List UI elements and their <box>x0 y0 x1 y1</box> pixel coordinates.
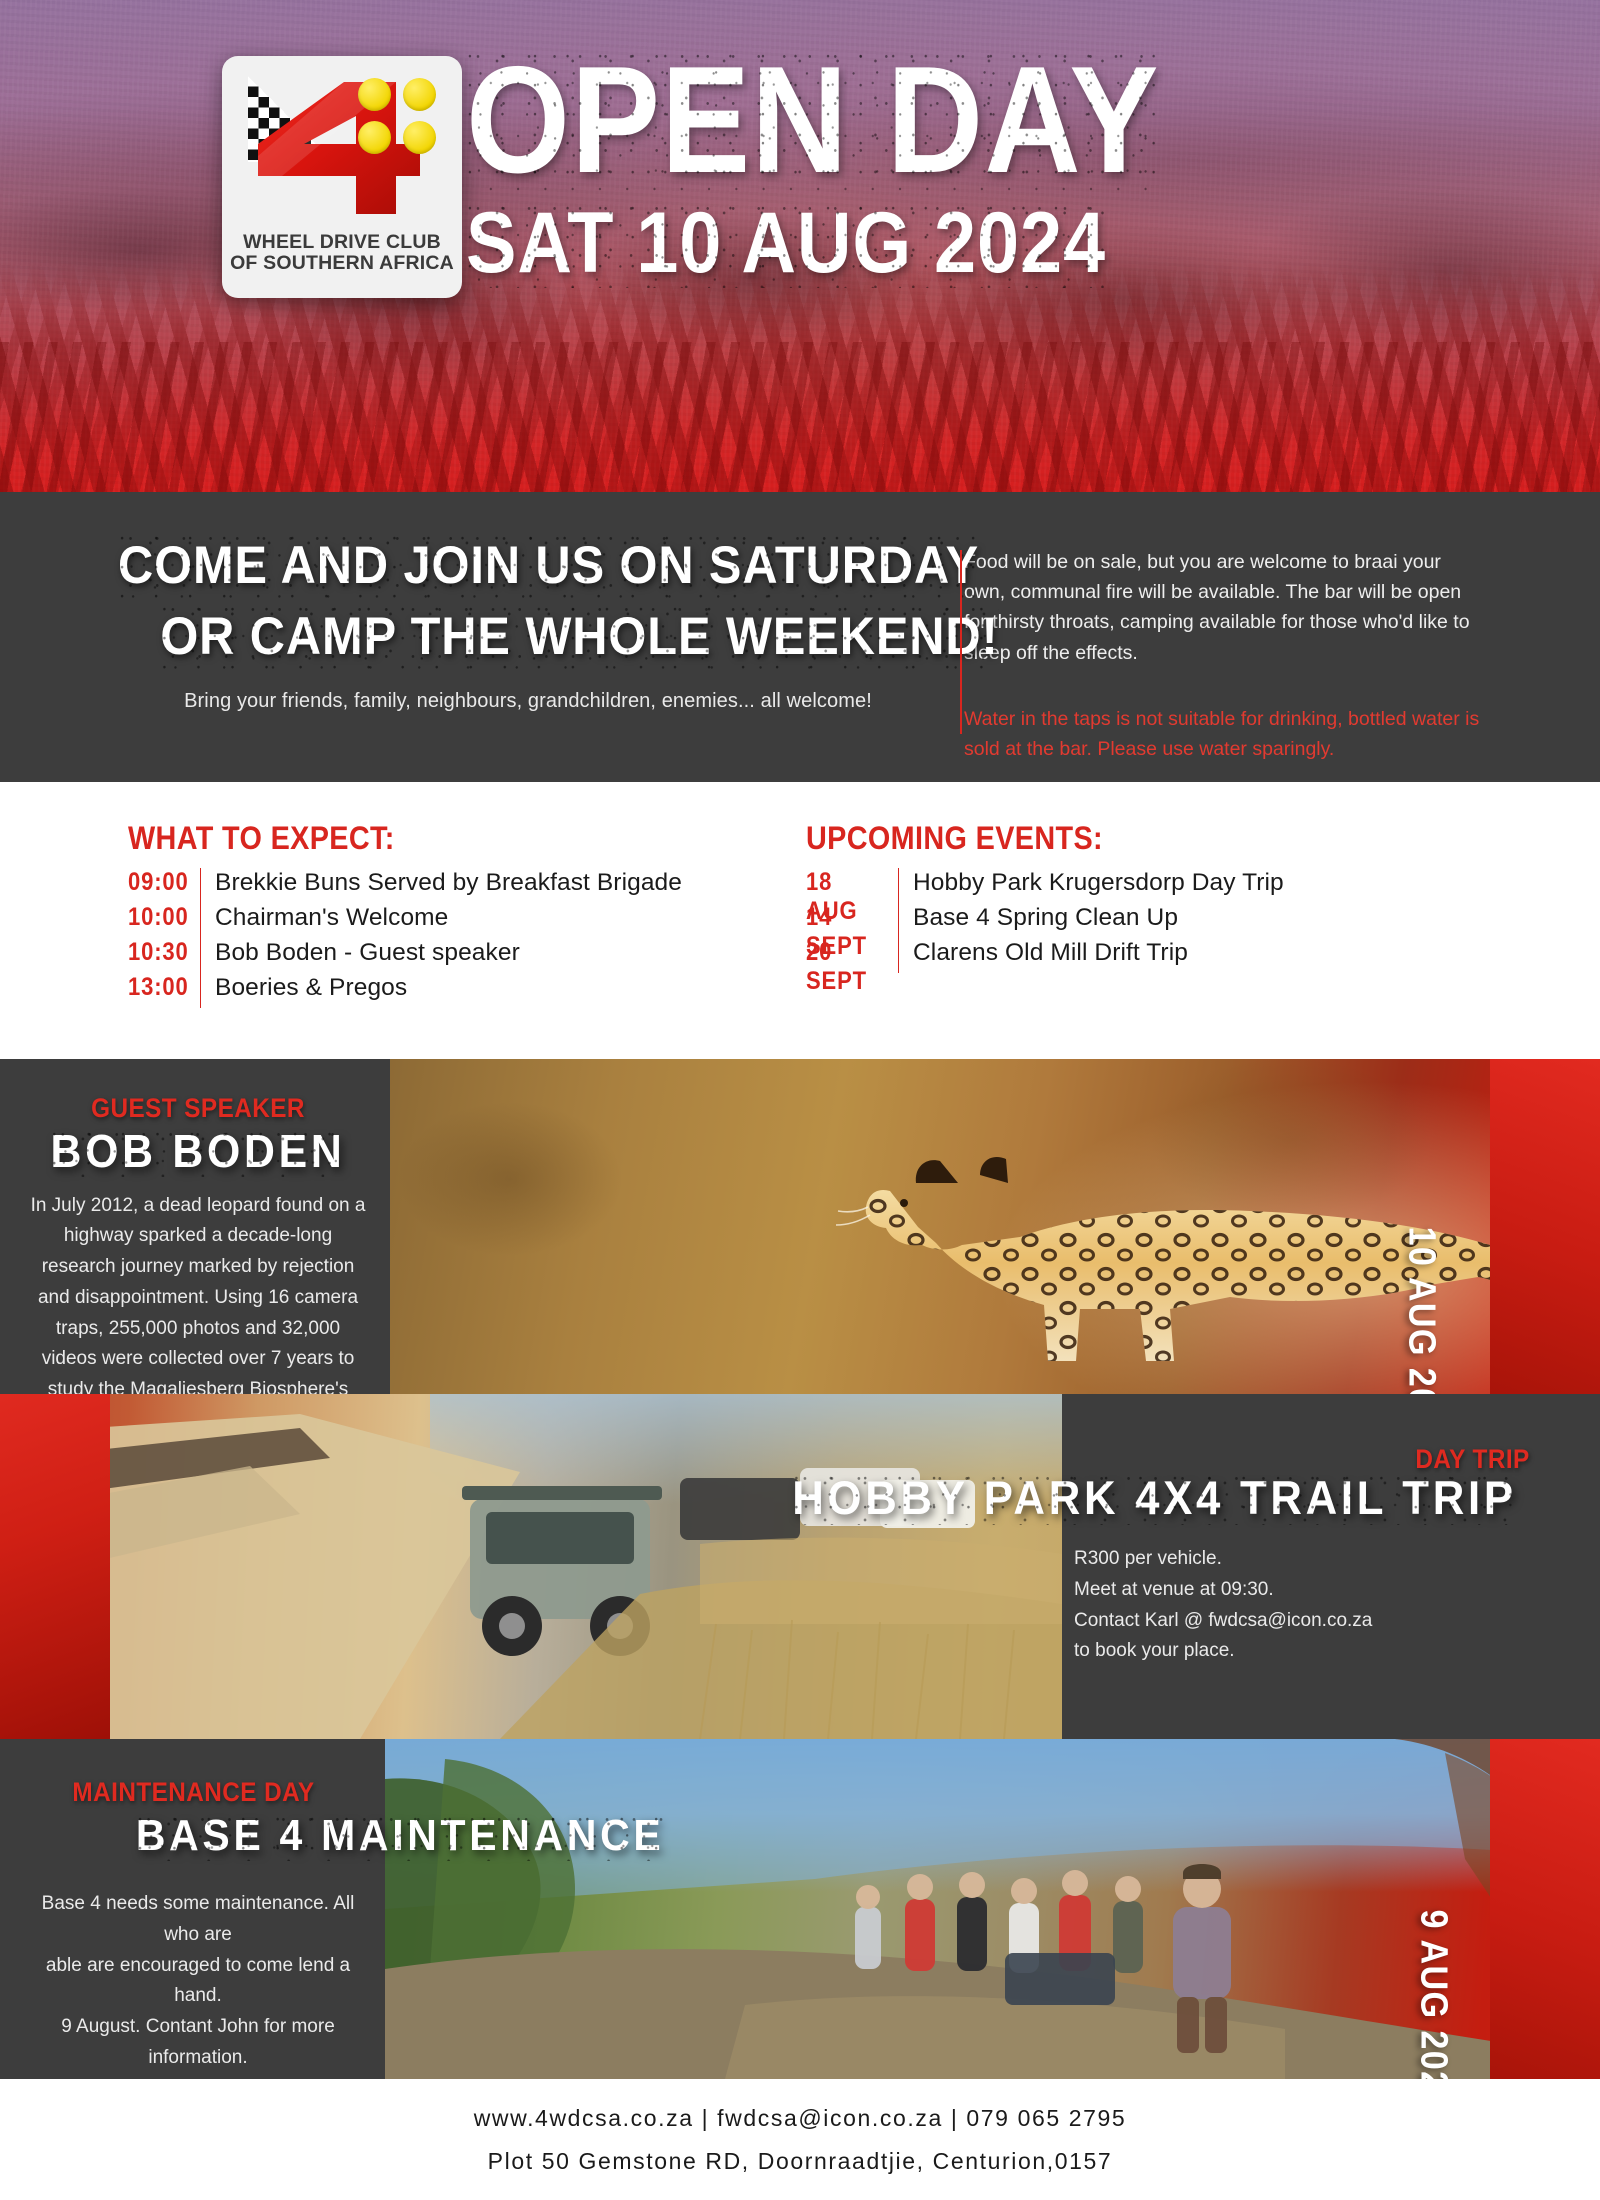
guest-speaker-name-text: BOB BODEN <box>51 1126 346 1177</box>
base-maintenance-detail-line: Base 4 needs some maintenance. All who a… <box>28 1889 368 1951</box>
what-to-expect-rows: 09:00 Brekkie Buns Served by Breakfast B… <box>128 868 700 1008</box>
poster-footer: www.4wdcsa.co.za | fwdcsa@icon.co.za | 0… <box>0 2079 1600 2200</box>
invitation-banner: COME AND JOIN US ON SATURDAY OR CAMP THE… <box>0 492 1600 782</box>
club-name-line2: OF SOUTHERN AFRICA <box>230 253 454 274</box>
footer-contact-line: www.4wdcsa.co.za | fwdcsa@icon.co.za | 0… <box>474 2097 1127 2140</box>
club-logo-wordmark: WHEEL DRIVE CLUB OF SOUTHERN AFRICA <box>230 232 454 274</box>
upcoming-events-column: UPCOMING EVENTS: 18 AUG Hobby Park Kruge… <box>700 782 1460 1059</box>
water-warning-text: Water in the taps is not suitable for dr… <box>964 704 1480 764</box>
upcoming-label: Base 4 Spring Clean Up <box>913 904 1178 932</box>
schedule-row-divider <box>200 868 201 903</box>
guest-speaker-date-tab: 10 AUG 2024 <box>1490 1059 1600 1394</box>
schedule-label: Brekkie Buns Served by Breakfast Brigade <box>215 869 682 897</box>
guest-speaker-text-panel: GUEST SPEAKER BOB BODEN In July 2012, a … <box>0 1059 390 1394</box>
hobby-park-title-text: HOBBY PARK 4X4 TRAIL TRIP <box>792 1470 1516 1525</box>
hobby-park-details: R300 per vehicle. Meet at venue at 09:30… <box>1074 1544 1544 1667</box>
upcoming-events-rows: 18 AUG Hobby Park Krugersdorp Day Trip 1… <box>806 868 1460 973</box>
invitation-details-block: Food will be on sale, but you are welcom… <box>940 492 1600 764</box>
guest-speaker-name: BOB BODEN <box>40 1126 356 1177</box>
schedule-section: WHAT TO EXPECT: 09:00 Brekkie Buns Serve… <box>0 782 1600 1059</box>
schedule-row-divider <box>200 903 201 938</box>
poster-title-text: OPEN DAY <box>466 48 1159 194</box>
hobby-park-detail-line: to book your place. <box>1074 1636 1544 1667</box>
schedule-row-divider <box>200 973 201 1008</box>
footer-address-line: Plot 50 Gemstone RD, Doornraadtjie, Cent… <box>488 2140 1113 2183</box>
base-maintenance-date-tab: 9 AUG 2024 <box>1490 1739 1600 2079</box>
invitation-paragraph: Food will be on sale, but you are welcom… <box>964 547 1480 668</box>
base-maintenance-title-text: BASE 4 MAINTENANCE <box>136 1811 665 1861</box>
base-maintenance-detail-line: 9 August. Contant John for more informat… <box>28 2012 368 2074</box>
base-maintenance-title: BASE 4 MAINTENANCE <box>136 1811 665 1861</box>
invitation-headline-block: COME AND JOIN US ON SATURDAY OR CAMP THE… <box>0 492 940 713</box>
schedule-row: 13:00 Boeries & Pregos <box>128 973 700 1008</box>
schedule-time: 10:00 <box>128 903 191 932</box>
hobby-park-detail-line: Meet at venue at 09:30. <box>1074 1575 1544 1606</box>
schedule-label: Chairman's Welcome <box>215 904 448 932</box>
schedule-row: 09:00 Brekkie Buns Served by Breakfast B… <box>128 868 700 903</box>
guest-speaker-eyebrow: GUEST SPEAKER <box>45 1093 351 1124</box>
schedule-time: 10:30 <box>128 938 191 967</box>
leopard-illustration <box>830 1095 1590 1365</box>
schedule-label: Boeries & Pregos <box>215 974 407 1002</box>
upcoming-label: Clarens Old Mill Drift Trip <box>913 939 1188 967</box>
hobby-park-detail-line: R300 per vehicle. <box>1074 1544 1544 1575</box>
schedule-row-divider <box>200 938 201 973</box>
header-title-group: OPEN DAY SAT 10 AUG 2024 <box>466 48 1546 288</box>
schedule-row: 10:30 Bob Boden - Guest speaker <box>128 938 700 973</box>
upcoming-date: 20 SEPT <box>806 938 887 996</box>
upcoming-row-divider <box>898 938 899 973</box>
schedule-time: 09:00 <box>128 868 191 897</box>
hobby-park-detail-line: Contact Karl @ fwdcsa@icon.co.za <box>1074 1606 1544 1637</box>
what-to-expect-column: WHAT TO EXPECT: 09:00 Brekkie Buns Serve… <box>0 782 700 1059</box>
upcoming-label: Hobby Park Krugersdorp Day Trip <box>913 869 1284 897</box>
banner-vertical-divider <box>960 550 962 734</box>
schedule-time: 13:00 <box>128 973 191 1002</box>
upcoming-row: 14 SEPT Base 4 Spring Clean Up <box>806 903 1460 938</box>
hobby-park-band: 18 AUG 2024 DAY TRIP HOBBY PARK 4X4 TRAI… <box>0 1394 1600 1739</box>
invitation-headline-line1-text: COME AND JOIN US ON SATURDAY <box>118 530 979 601</box>
schedule-row: 10:00 Chairman's Welcome <box>128 903 700 938</box>
club-logo-card: WHEEL DRIVE CLUB OF SOUTHERN AFRICA <box>222 56 462 298</box>
upcoming-events-title: UPCOMING EVENTS: <box>806 820 1395 857</box>
poster-date: SAT 10 AUG 2024 <box>466 200 1416 288</box>
invitation-subline: Bring your friends, family, neighbours, … <box>118 690 938 713</box>
guest-speaker-bio: In July 2012, a dead leopard found on a … <box>28 1191 368 1394</box>
guest-speaker-band: GUEST SPEAKER BOB BODEN In July 2012, a … <box>0 1059 1600 1394</box>
upcoming-row-divider <box>898 868 899 903</box>
hobby-park-date-tab: 18 AUG 2024 <box>0 1394 110 1739</box>
invitation-headline-line2-text: OR CAMP THE WHOLE WEEKEND! <box>160 601 998 672</box>
hobby-park-title: HOBBY PARK 4X4 TRAIL TRIP <box>792 1470 1516 1525</box>
base-maintenance-detail-line: able are encouraged to come lend a hand. <box>28 1951 368 2013</box>
upcoming-row-divider <box>898 903 899 938</box>
four-wheels-icon <box>358 78 436 154</box>
base-maintenance-date-text: 9 AUG 2024 <box>1411 1909 1454 2079</box>
schedule-label: Bob Boden - Guest speaker <box>215 939 520 967</box>
guest-speaker-date-text: 10 AUG 2024 <box>1400 1227 1443 1395</box>
invitation-headline-line2: OR CAMP THE WHOLE WEEKEND! <box>118 601 874 672</box>
base-maintenance-band: MAINTENANCE DAY BASE 4 MAINTENANCE Base … <box>0 1739 1600 2079</box>
poster-title: OPEN DAY <box>466 48 1416 194</box>
base-maintenance-eyebrow: MAINTENANCE DAY <box>39 1777 348 1808</box>
base-maintenance-details: Base 4 needs some maintenance. All who a… <box>28 1889 368 2074</box>
invitation-headline-line1: COME AND JOIN US ON SATURDAY <box>118 530 874 601</box>
poster-root: WHEEL DRIVE CLUB OF SOUTHERN AFRICA OPEN… <box>0 0 1600 2200</box>
4wd-club-logo-icon <box>244 72 440 224</box>
upcoming-row: 18 AUG Hobby Park Krugersdorp Day Trip <box>806 868 1460 903</box>
upcoming-row: 20 SEPT Clarens Old Mill Drift Trip <box>806 938 1460 973</box>
tire-track-overlay-secondary <box>0 342 1600 492</box>
club-name-line1: WHEEL DRIVE CLUB <box>230 232 454 253</box>
poster-header: WHEEL DRIVE CLUB OF SOUTHERN AFRICA OPEN… <box>0 0 1600 492</box>
what-to-expect-title: WHAT TO EXPECT: <box>128 820 643 857</box>
poster-date-text: SAT 10 AUG 2024 <box>466 200 1106 288</box>
